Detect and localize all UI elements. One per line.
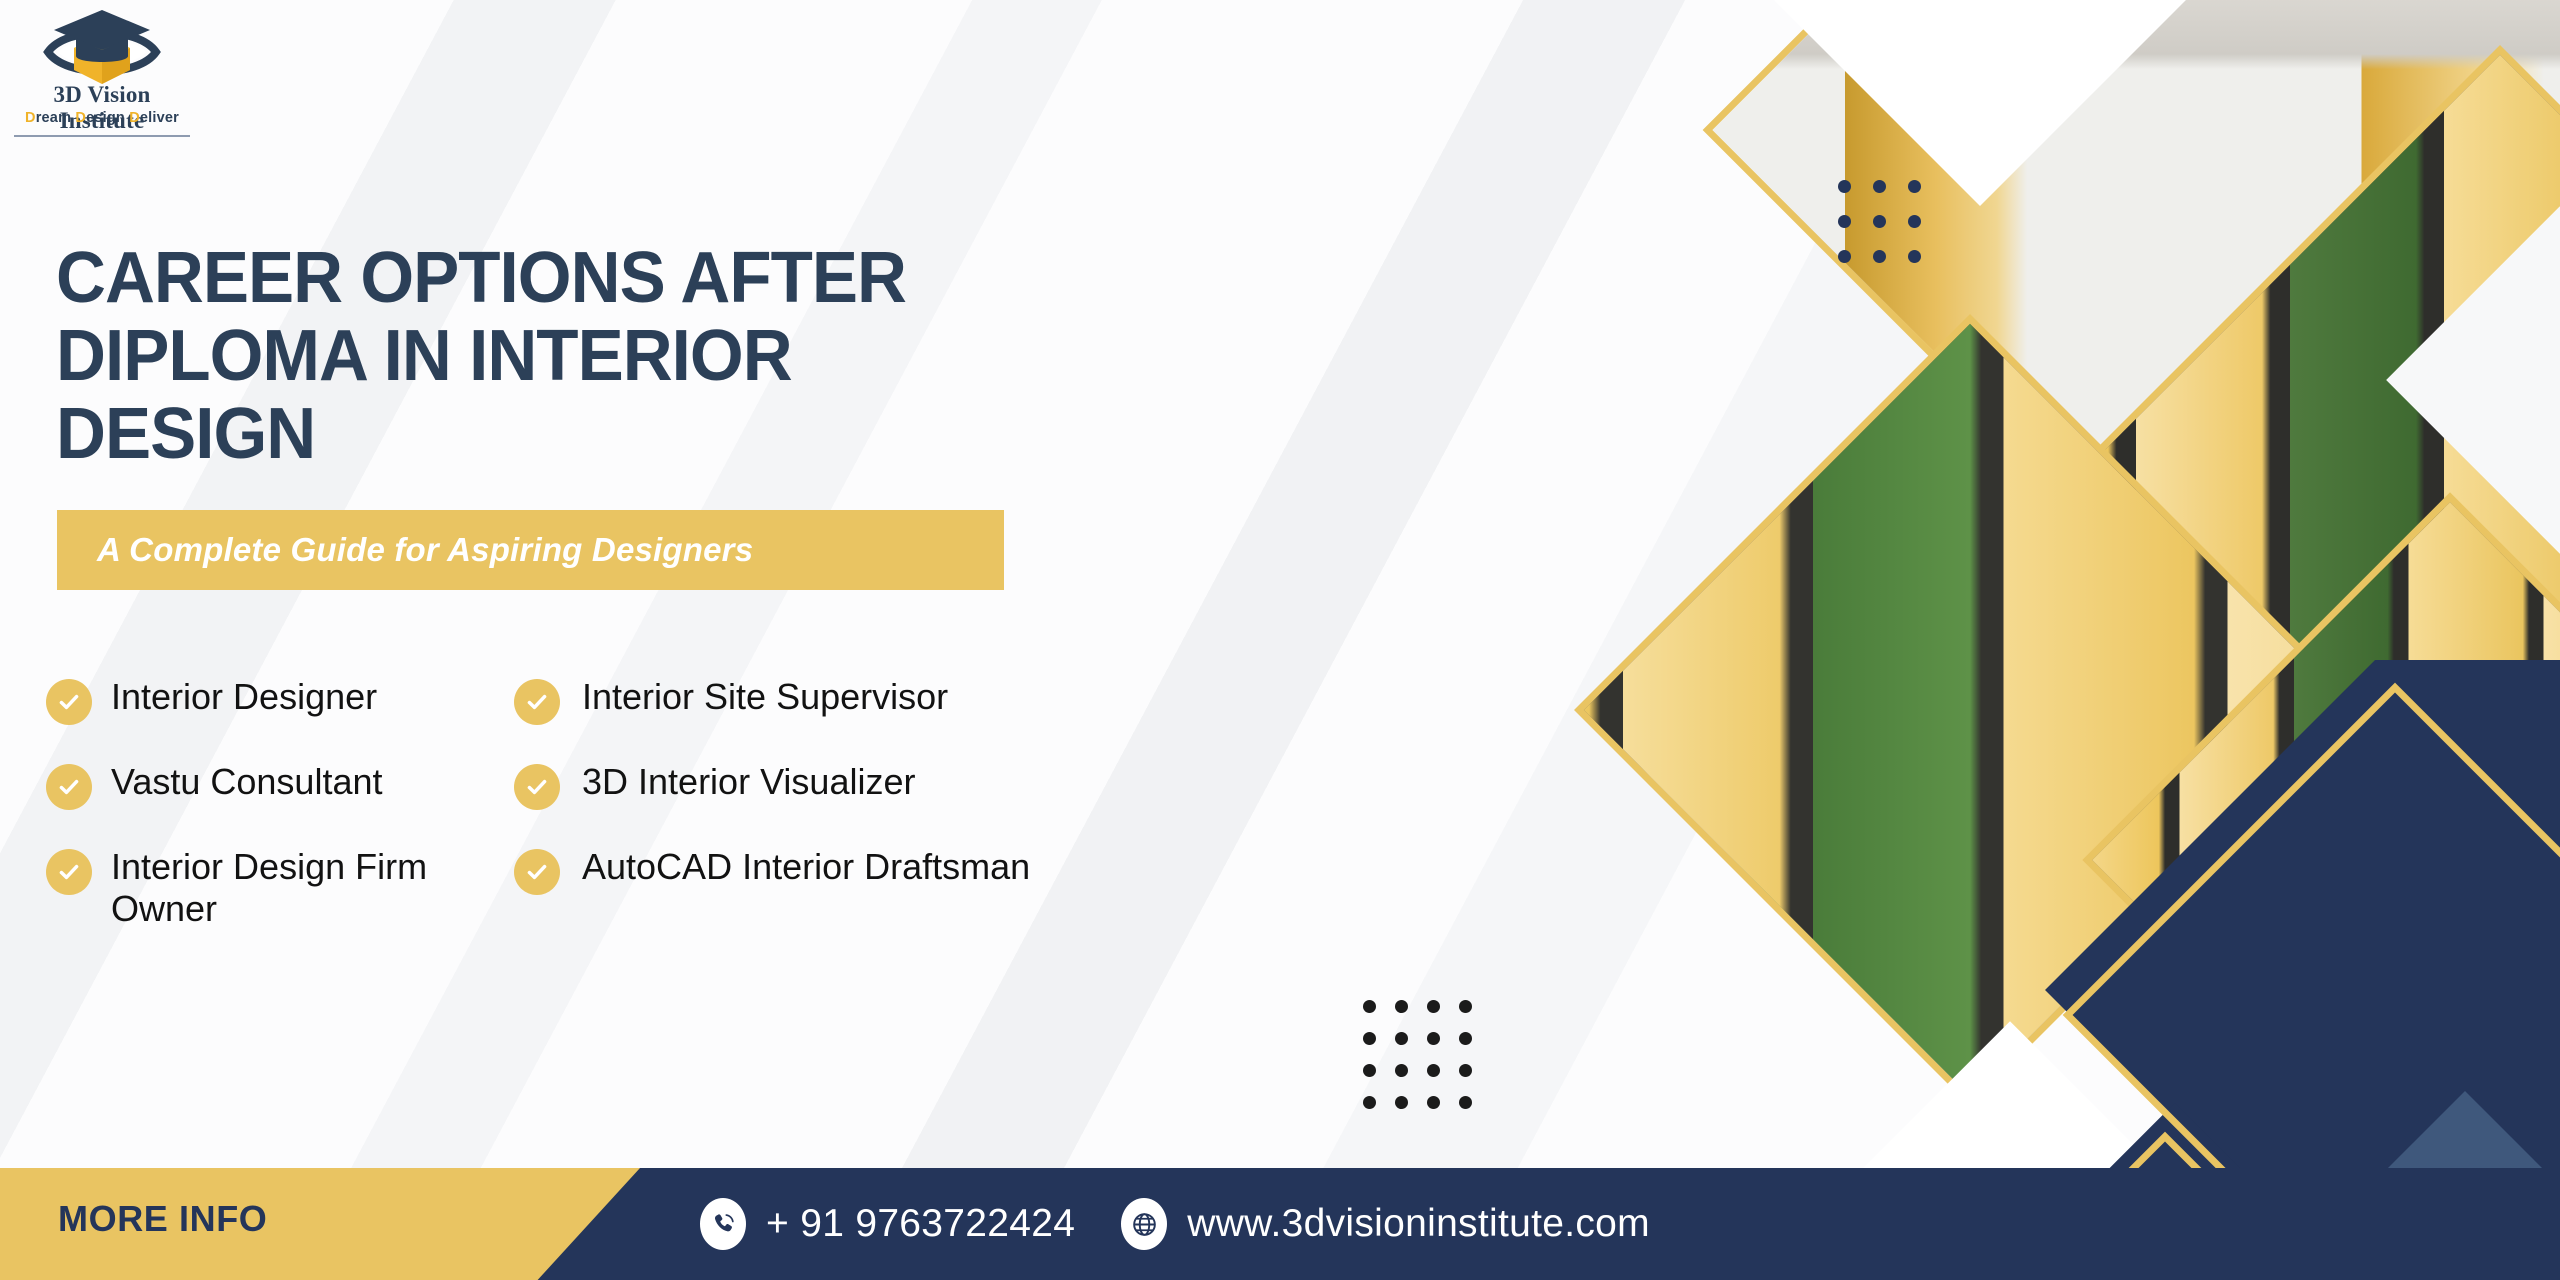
tagline-d1: D <box>25 110 36 126</box>
dot-grid-dark-icon <box>1363 1000 1471 1108</box>
brand-logo[interactable]: 3D Vision Institute Dream Design Deliver <box>14 8 190 126</box>
dot-grid-navy-icon <box>1838 180 1921 263</box>
check-circle-icon <box>46 849 92 895</box>
tagline-word2: esign <box>86 110 129 126</box>
check-circle-icon <box>46 679 92 725</box>
headline-line-2: DIPLOMA IN INTERIOR DESIGN <box>56 318 1045 474</box>
footer-bar: MORE INFO + 91 9763722424 <box>0 1168 2560 1280</box>
list-row: Interior Design Firm Owner AutoCAD Inter… <box>46 846 1106 931</box>
contact-phone[interactable]: + 91 9763722424 <box>700 1198 1075 1250</box>
graduation-cap-cube-eye-logo-icon <box>42 8 162 88</box>
check-circle-icon <box>514 849 560 895</box>
check-circle-icon <box>46 764 92 810</box>
list-item: Interior Design Firm Owner <box>46 846 514 931</box>
list-item: AutoCAD Interior Draftsman <box>514 846 1074 931</box>
page-title: CAREER OPTIONS AFTER DIPLOMA IN INTERIOR… <box>56 240 1045 473</box>
list-item-label: 3D Interior Visualizer <box>582 761 915 803</box>
list-item-label: AutoCAD Interior Draftsman <box>582 846 1030 888</box>
list-item: Interior Designer <box>46 676 514 725</box>
list-row: Interior Designer Interior Site Supervis… <box>46 676 1106 725</box>
tagline-d2: D <box>75 110 86 126</box>
tagline-word3: eliver <box>140 110 179 126</box>
headline-line-1: CAREER OPTIONS AFTER <box>56 238 906 318</box>
subtitle-banner: A Complete Guide for Aspiring Designers <box>57 510 1004 590</box>
list-item-label: Vastu Consultant <box>111 761 383 803</box>
more-info-label: MORE INFO <box>58 1198 267 1240</box>
brand-tagline: Dream Design Deliver <box>14 110 190 126</box>
list-row: Vastu Consultant 3D Interior Visualizer <box>46 761 1106 810</box>
check-circle-icon <box>514 679 560 725</box>
list-item-label: Interior Site Supervisor <box>582 676 948 718</box>
promo-banner: 3D Vision Institute Dream Design Deliver… <box>0 0 2560 1280</box>
tagline-word1: ream <box>36 110 76 126</box>
subtitle-text: A Complete Guide for Aspiring Designers <box>97 531 753 569</box>
contact-details: + 91 9763722424 www.3dvisioninstitute.co… <box>700 1168 1650 1280</box>
check-circle-icon <box>514 764 560 810</box>
phone-number: + 91 9763722424 <box>766 1202 1075 1246</box>
globe-icon <box>1121 1198 1167 1250</box>
phone-icon <box>700 1198 746 1250</box>
career-options-list: Interior Designer Interior Site Supervis… <box>46 676 1106 967</box>
list-item: Interior Site Supervisor <box>514 676 1074 725</box>
tagline-d3: D <box>129 110 140 126</box>
website-url: www.3dvisioninstitute.com <box>1187 1202 1650 1246</box>
list-item: Vastu Consultant <box>46 761 514 810</box>
contact-website[interactable]: www.3dvisioninstitute.com <box>1121 1198 1650 1250</box>
list-item: 3D Interior Visualizer <box>514 761 1074 810</box>
list-item-label: Interior Designer <box>111 676 377 718</box>
list-item-label: Interior Design Firm Owner <box>111 846 511 931</box>
